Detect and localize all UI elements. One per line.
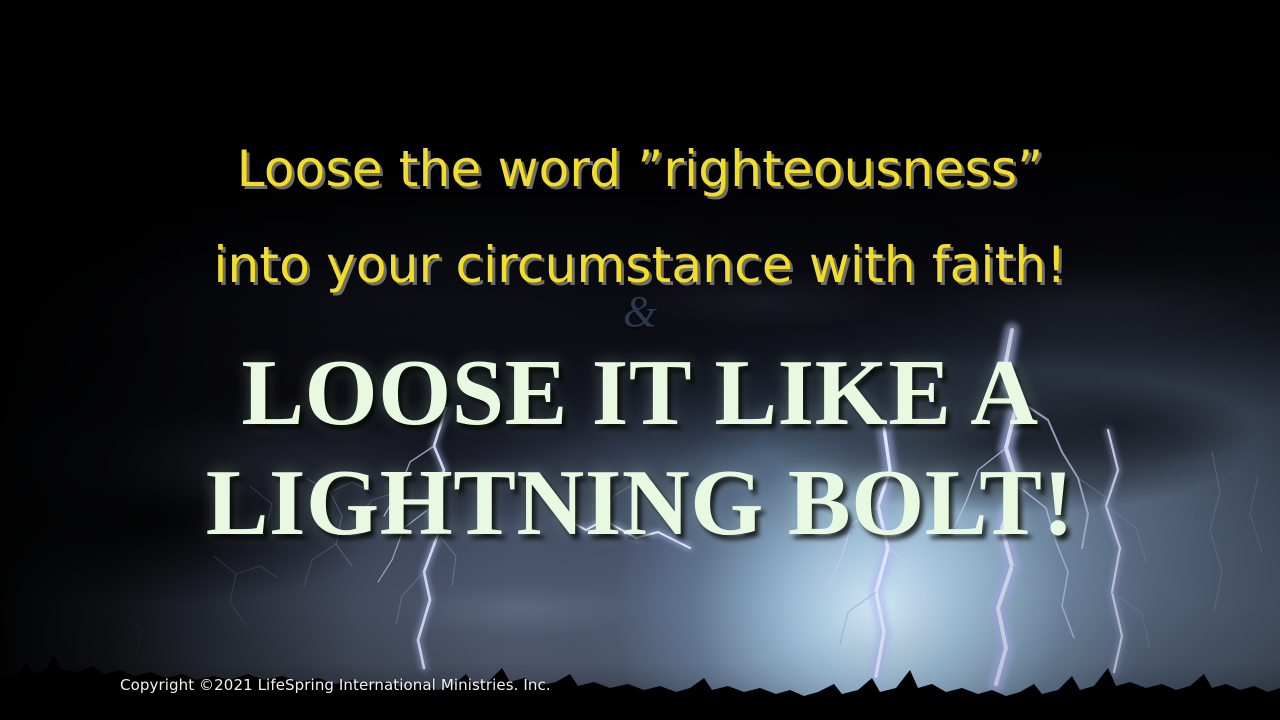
ampersand-connector: & [0,286,1280,337]
heading-line-1: LOOSE IT LIKE A [0,346,1280,440]
slide-canvas: Loose the word ”righteousness” into your… [0,0,1280,720]
heading-line-2: LIGHTNING BOLT! [0,456,1280,550]
slide-text-layer: Loose the word ”righteousness” into your… [0,0,1280,720]
copyright-notice: Copyright ©2021 LifeSpring International… [120,676,551,694]
subheading-line-1: Loose the word ”righteousness” [0,140,1280,198]
